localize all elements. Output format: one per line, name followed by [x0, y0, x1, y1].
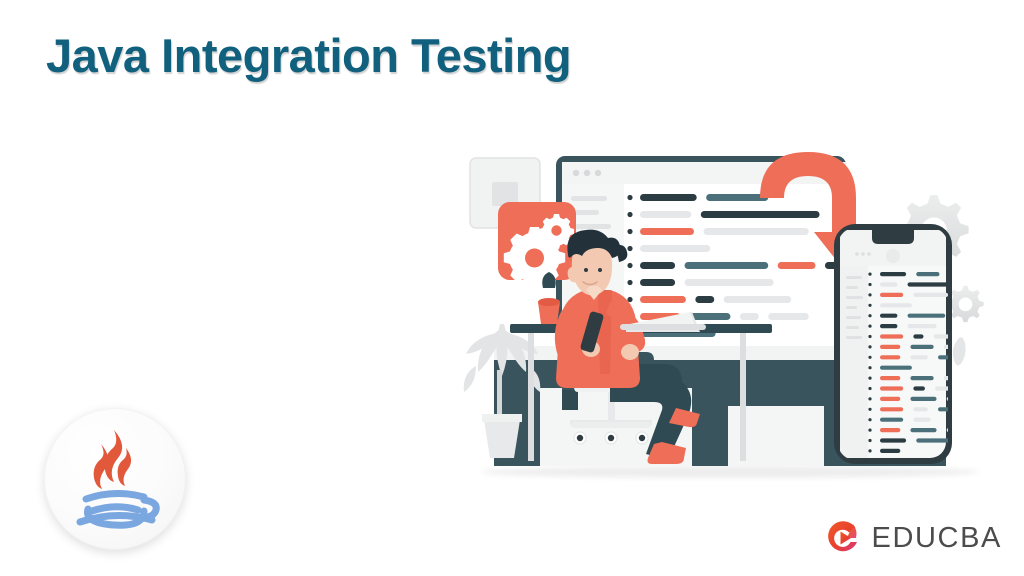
code-token: [880, 386, 903, 390]
code-token: [908, 324, 937, 328]
code-bullet: [627, 280, 632, 285]
code-token: [880, 334, 903, 338]
code-token: [640, 262, 675, 269]
code-bullet: [868, 397, 871, 400]
code-bullet: [868, 283, 871, 286]
code-bullet: [868, 387, 871, 390]
page-title: Java Integration Testing: [46, 28, 571, 83]
code-token: [880, 418, 903, 422]
slide-canvas: Java Integration Testing: [0, 0, 1024, 576]
code-token: [908, 282, 949, 286]
code-bullet: [868, 377, 871, 380]
code-bullet: [868, 314, 871, 317]
code-bullet: [627, 212, 632, 217]
code-token: [880, 407, 903, 411]
code-bullet: [627, 263, 632, 268]
code-token: [778, 262, 816, 269]
code-token: [880, 428, 900, 432]
code-token: [910, 397, 936, 401]
settings-badge: [498, 202, 576, 288]
code-token: [880, 345, 900, 349]
code-bullet: [868, 429, 871, 432]
code-token: [640, 245, 710, 252]
code-token: [913, 407, 928, 411]
code-bullet: [868, 449, 871, 452]
code-token: [880, 324, 897, 328]
code-bullet: [868, 325, 871, 328]
gear-small: [947, 286, 983, 322]
code-token: [916, 272, 939, 276]
code-token: [880, 314, 897, 318]
java-coffee-cup-icon: [44, 408, 186, 550]
code-bullet: [868, 439, 871, 442]
code-bullet: [868, 335, 871, 338]
code-bullet: [868, 408, 871, 411]
code-token: [703, 228, 808, 235]
code-token: [695, 296, 714, 303]
code-bullet: [868, 366, 871, 369]
developer-integration-testing-illustration: [440, 120, 1010, 495]
code-token: [908, 314, 946, 318]
code-token: [740, 313, 759, 320]
educba-wordmark: EDUCBA: [872, 524, 1002, 553]
code-token: [880, 397, 900, 401]
code-token: [685, 262, 769, 269]
code-token: [913, 386, 925, 390]
code-token: [880, 303, 912, 307]
educba-logo: EDUCBA: [823, 518, 1002, 558]
code-token: [910, 376, 933, 380]
code-token: [640, 228, 694, 235]
code-token: [706, 194, 768, 201]
code-token: [685, 279, 774, 286]
code-token: [880, 376, 900, 380]
code-bullet: [627, 246, 632, 251]
code-token: [724, 296, 792, 303]
code-bullet: [868, 418, 871, 421]
java-logo-badge: [44, 408, 186, 550]
code-bullet: [868, 273, 871, 276]
code-token: [640, 194, 697, 201]
code-token: [640, 211, 691, 218]
code-bullet: [627, 229, 632, 234]
educba-swirl-play-icon: [823, 518, 863, 558]
code-bullet: [868, 304, 871, 307]
code-bullet: [868, 356, 871, 359]
code-token: [690, 313, 731, 320]
code-token: [701, 211, 820, 218]
code-token: [913, 418, 930, 422]
code-token: [935, 386, 955, 390]
code-token: [938, 407, 967, 411]
code-token: [880, 293, 903, 297]
smartphone: [834, 224, 967, 464]
code-bullet: [627, 195, 632, 200]
code-token: [880, 355, 900, 359]
code-token: [880, 282, 897, 286]
code-token: [880, 438, 906, 442]
code-token: [880, 272, 906, 276]
code-token: [768, 313, 809, 320]
code-token: [916, 438, 960, 442]
code-token: [913, 293, 948, 297]
code-token: [880, 449, 900, 453]
code-token: [910, 428, 936, 432]
code-bullet: [868, 345, 871, 348]
floor-shadow: [480, 466, 980, 478]
gear-fleck-icon: [953, 337, 966, 365]
code-token: [910, 355, 927, 359]
code-token: [910, 345, 933, 349]
code-token: [880, 366, 912, 370]
code-token: [640, 279, 675, 286]
code-bullet: [868, 293, 871, 296]
code-token: [913, 334, 923, 338]
code-token: [640, 296, 686, 303]
